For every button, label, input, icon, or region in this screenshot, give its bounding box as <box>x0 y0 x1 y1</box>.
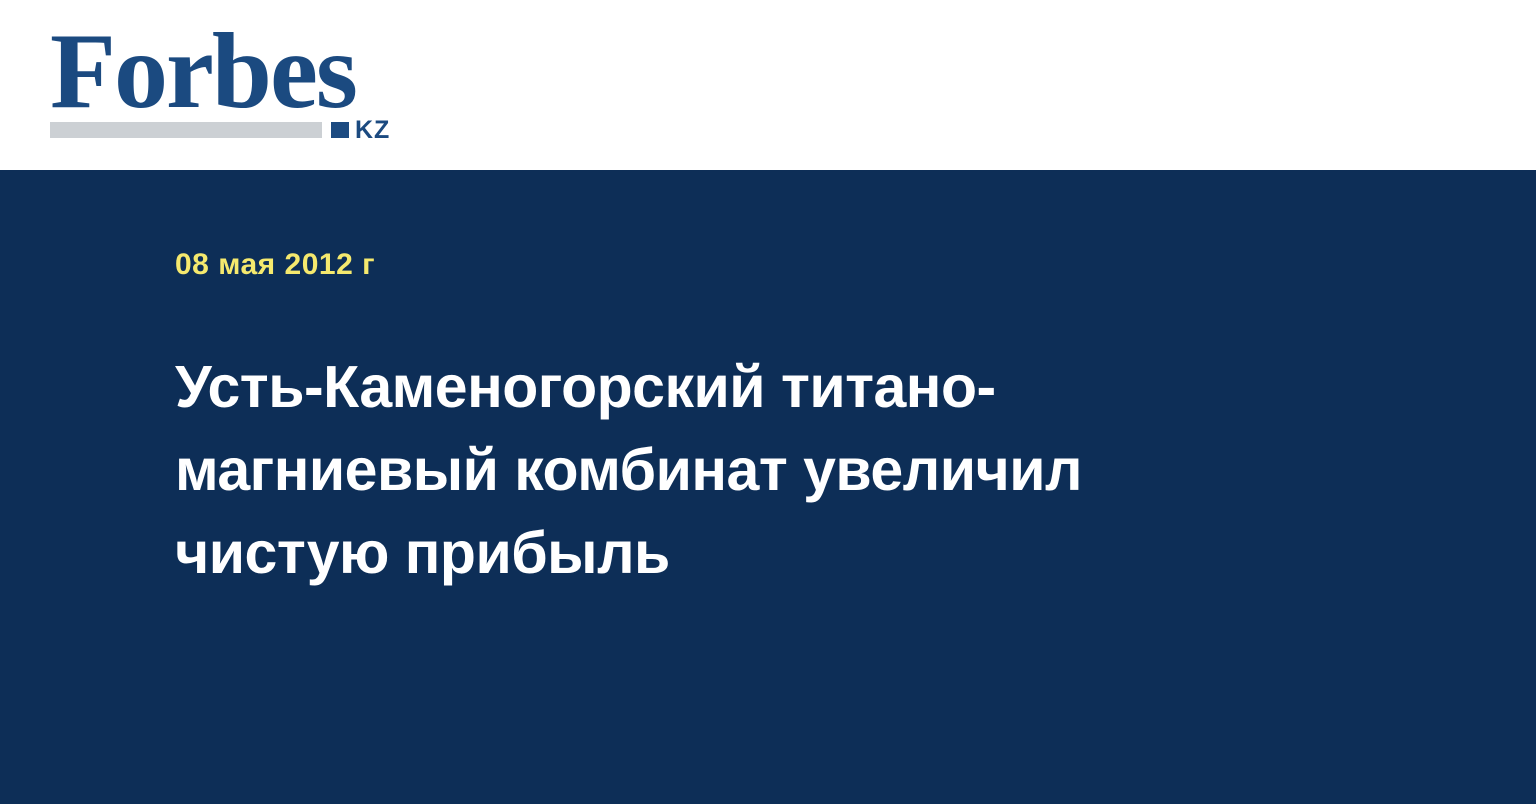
logo-square-icon <box>331 122 349 138</box>
logo-underline-bar <box>50 122 322 138</box>
article-publish-date: 08 мая 2012 г <box>175 248 1275 282</box>
article-headline: Усть-Каменогорский титано-магниевый комб… <box>175 346 1185 595</box>
site-header: Forbes KZ <box>0 0 1536 170</box>
hero-content: 08 мая 2012 г Усть-Каменогорский титано-… <box>175 248 1275 595</box>
forbes-wordmark: Forbes <box>50 22 356 122</box>
logo-tld-label: KZ <box>355 118 390 143</box>
forbes-kz-logo[interactable]: Forbes KZ <box>50 22 410 142</box>
article-hero-banner: 08 мая 2012 г Усть-Каменогорский титано-… <box>0 170 1536 804</box>
article-hero-page: Forbes KZ 08 мая 2012 г Усть-Каменогорск… <box>0 0 1536 804</box>
